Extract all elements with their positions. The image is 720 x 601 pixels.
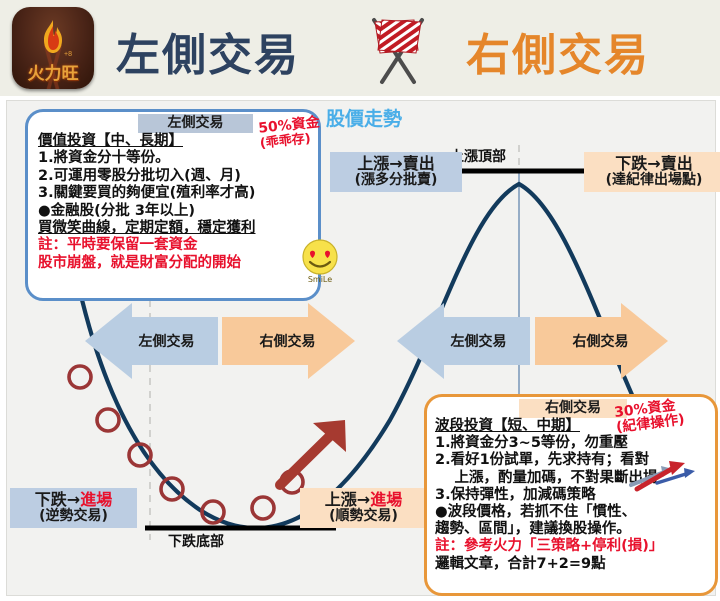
left-box-note-1: 註：平時要保留一套資金	[38, 237, 313, 254]
label-down-enter: 下跌→進場 (逆勢交易)	[10, 488, 137, 528]
left-box-line: ●金融股(分批 3年以上)	[38, 203, 313, 220]
left-trading-box: 左側交易 50%資金 (乖乖存) 價值投資【中、長期】 1.將資金分十等份。 2…	[25, 109, 321, 301]
label-down-sell: 下跌→賣出 (達紀律出場點)	[584, 152, 720, 192]
label-line2: (逆勢交易)	[16, 508, 131, 525]
header-title-right: 右側交易	[466, 19, 650, 83]
left-box-line: 1.將資金分十等份。	[38, 150, 313, 167]
infographic-root: +8 火力旺 左側交易 右側交易	[0, 0, 720, 601]
right-box-note-2: 邏輯文章，合計7+2=9點	[435, 556, 713, 573]
right-box-body: 波段投資【短、中期】 1.將資金分3~5等份，勿重壓 2.看好1份試單，先求持有…	[435, 418, 713, 573]
left-box-body: 價值投資【中、長期】 1.將資金分十等份。 2.可運用零股分批切入(週、月) 3…	[38, 133, 313, 272]
right-trading-box: 右側交易 30%資金 (紀律操作) 波段投資【短、中期】 1.將資金分3~5等份…	[424, 394, 718, 596]
app-logo-icon: +8 火力旺	[12, 7, 94, 89]
page-header: +8 火力旺 左側交易 右側交易	[0, 0, 720, 96]
right-box-line: 1.將資金分3~5等份，勿重壓	[435, 435, 713, 452]
left-box-line: 2.可運用零股分批切入(週、月)	[38, 168, 313, 185]
left-box-note-2: 股市崩盤，就是財富分配的開始	[38, 255, 313, 272]
rising-arrows-icon	[627, 459, 705, 493]
left-box-line: 3.關鍵要買的夠便宜(殖利率才高)	[38, 185, 313, 202]
right-box-note-1: 註：參考火力「三策略+停利(損)」	[435, 538, 713, 555]
label-up-sell: 上漲→賣出 (漲多分批賣)	[330, 152, 462, 192]
bottom-label: 下跌底部	[168, 531, 224, 551]
arrow-text: 右側交易	[533, 331, 684, 351]
flow-arrow-label-right-2: 右側交易	[533, 315, 668, 367]
logo-plus-badge: +8	[64, 51, 72, 58]
label-line2: (達紀律出場點)	[590, 172, 718, 189]
flow-arrow-label-left-1: 左側交易	[83, 315, 218, 367]
smiley-caption: SmiLe	[308, 275, 332, 284]
arrow-text: 右側交易	[220, 331, 371, 351]
label-up-enter: 上漲→進場 (順勢交易)	[300, 488, 427, 528]
left-box-heading: 價值投資【中、長期】	[38, 133, 313, 150]
header-title-left: 左側交易	[116, 19, 300, 83]
label-line1: 下跌→進場	[16, 491, 131, 508]
right-box-heading: 波段投資【短、中期】	[435, 418, 713, 435]
right-box-line: 趨勢、區間」，建議換股操作。	[435, 521, 713, 538]
left-box-tag: 左側交易	[138, 114, 253, 133]
label-line2: (順勢交易)	[306, 508, 421, 525]
label-line2: (漲多分批賣)	[336, 172, 456, 189]
label-line1: 下跌→賣出	[590, 155, 718, 172]
flow-arrow-label-right-1: 右側交易	[220, 315, 355, 367]
left-box-underline-line: 買微笑曲線，定期定額，穩定獲利	[38, 220, 313, 237]
smiley-face-icon: SmiLe	[296, 237, 344, 285]
arrow-text: 左側交易	[395, 331, 546, 351]
label-line1: 上漲→進場	[306, 491, 421, 508]
right-box-line: ●波段價格，若抓不住「慣性、	[435, 504, 713, 521]
flow-arrow-label-left-2: 左側交易	[395, 315, 530, 367]
right-box-tag: 右側交易	[519, 399, 627, 418]
crossed-flags-icon	[350, 14, 446, 86]
label-line1: 上漲→賣出	[336, 155, 456, 172]
arrow-text: 左側交易	[83, 331, 234, 351]
logo-wordmark: 火力旺	[12, 59, 94, 84]
